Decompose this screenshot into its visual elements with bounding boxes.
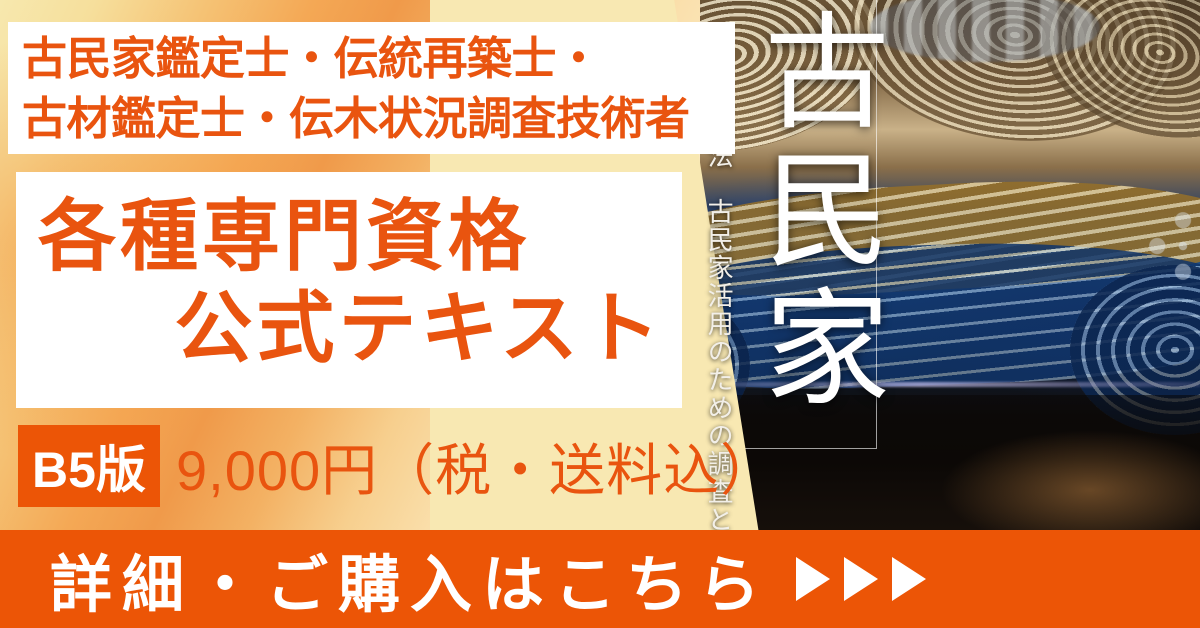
cta-bar[interactable]: 詳細・ご購入はこちら [0, 530, 1200, 628]
qualifications-line-2: 古材鑑定士・伝木状況調査技術者 [8, 89, 735, 149]
triangle-right-icon [844, 557, 878, 601]
headline-line-1: 各種専門資格 [16, 172, 682, 282]
format-badge: B5版 [18, 425, 160, 507]
cta-label: 詳細・ご購入はこちら [50, 534, 770, 624]
book-cover-title: 古民家 [745, 6, 885, 436]
headline-box: 各種専門資格 公式テキスト [16, 172, 682, 408]
triangle-right-icon [796, 557, 830, 601]
cta-arrows [796, 557, 926, 601]
promo-banner: 伝統構法 古民家活用のための調査と再生の 古民家 古民家鑑定士・伝統再築士・ 古… [0, 0, 1200, 628]
qualifications-line-1: 古民家鑑定士・伝統再築士・ [8, 22, 735, 89]
cover-warm-glow [940, 430, 1200, 540]
triangle-right-icon [892, 557, 926, 601]
qualifications-box: 古民家鑑定士・伝統再築士・ 古材鑑定士・伝木状況調査技術者 [8, 22, 735, 154]
headline-line-2: 公式テキスト [16, 282, 682, 374]
price-text: 9,000円（税・送料込） [176, 425, 777, 507]
